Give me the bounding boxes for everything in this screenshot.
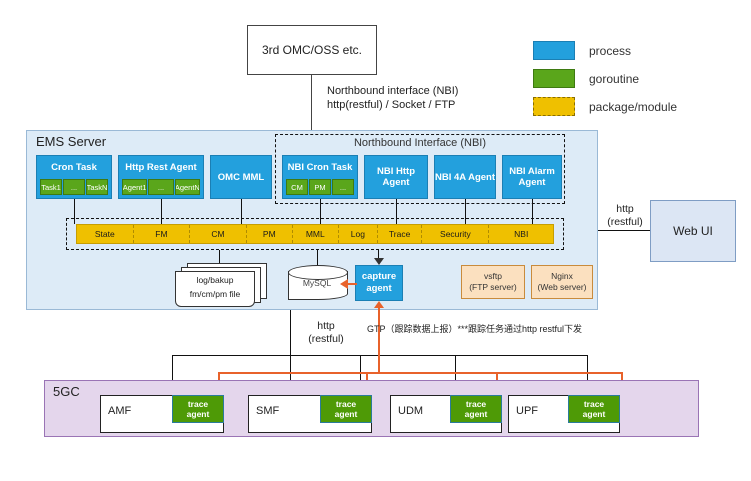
legend-swatch-package-module <box>533 97 575 116</box>
module-fm[interactable]: FM <box>134 225 191 243</box>
legend-label-goroutine: goroutine <box>589 72 639 86</box>
network-function-udm[interactable]: UDM trace agent <box>390 395 502 433</box>
goroutine-taskn: TaskN <box>86 179 108 195</box>
module-cm[interactable]: CM <box>190 225 247 243</box>
goroutine-task-ellipsis: ... <box>63 179 85 195</box>
capture-agent-label-line1: capture <box>362 271 396 283</box>
cron-task-goroutines: Task1 ... TaskN <box>40 179 108 195</box>
legend-label-package-module: package/module <box>589 100 677 114</box>
omc-to-ems-connector <box>311 75 312 134</box>
legend-swatch-goroutine <box>533 69 575 88</box>
http-rest-agent-goroutines: Agent1 ... AgentN <box>122 179 200 195</box>
webui-connection-label: http (restful) <box>601 203 649 229</box>
module-pm[interactable]: PM <box>247 225 293 243</box>
network-function-smf[interactable]: SMF trace agent <box>248 395 372 433</box>
http-restful-label: http (restful) <box>296 320 356 346</box>
capture-agent-process[interactable]: capture agent <box>355 265 403 301</box>
vsftp-server-box: vsftp (FTP server) <box>461 265 525 299</box>
process-omc-mml-label: OMC MML <box>218 172 264 183</box>
trace-agent-udm-line1: trace <box>465 399 488 409</box>
arrow-modules-to-capture-agent <box>374 258 384 265</box>
trace-agent-smf-line2: agent <box>335 409 358 419</box>
orange-gtp-vertical-to-capture-agent <box>378 308 380 372</box>
connector-ems-to-webui <box>598 230 650 231</box>
legend-item-goroutine: goroutine <box>533 69 677 88</box>
ems-server-title: EMS Server <box>36 134 106 149</box>
nginx-server-box: Nginx (Web server) <box>531 265 593 299</box>
legend-item-process: process <box>533 41 677 60</box>
trace-agent-upf-line1: trace <box>583 399 606 409</box>
module-trace[interactable]: Trace <box>378 225 422 243</box>
nbi-connection-label: Northbound interface (NBI) http(restful)… <box>327 84 537 112</box>
capture-agent-label-line2: agent <box>362 283 396 295</box>
goroutine-agent1: Agent1 <box>122 179 147 195</box>
process-nbi-http-agent[interactable]: NBI Http Agent <box>364 155 428 199</box>
gtp-trace-label: GTP（跟踪数据上报）***跟踪任务通过http restful下发 <box>367 322 627 335</box>
web-ui-label: Web UI <box>673 224 713 238</box>
amf-label: AMF <box>108 405 131 417</box>
nbi-cron-task-goroutines: CM PM ... <box>286 179 354 195</box>
connector-capture-agent-to-database <box>348 283 357 285</box>
module-nbi[interactable]: NBI <box>489 225 553 243</box>
goroutine-task1: Task1 <box>40 179 62 195</box>
trace-agent-amf[interactable]: trace agent <box>172 395 224 423</box>
network-function-upf[interactable]: UPF trace agent <box>508 395 620 433</box>
process-cron-task-label: Cron Task <box>37 156 111 178</box>
trace-agent-smf[interactable]: trace agent <box>320 395 372 423</box>
files-label-line1: log/bakup <box>176 275 254 285</box>
omc-oss-label: 3rd OMC/OSS etc. <box>262 43 362 57</box>
goroutine-pm: PM <box>309 179 331 195</box>
trace-agent-upf-line2: agent <box>583 409 606 419</box>
goroutine-cm: CM <box>286 179 308 195</box>
log-backup-files: log/bakup fm/cm/pm file <box>175 263 265 305</box>
upf-label: UPF <box>516 405 538 417</box>
legend-swatch-process <box>533 41 575 60</box>
third-party-omc-oss-box: 3rd OMC/OSS etc. <box>247 25 377 75</box>
process-omc-mml[interactable]: OMC MML <box>210 155 272 199</box>
web-ui-box[interactable]: Web UI <box>650 200 736 262</box>
nginx-label-line2: (Web server) <box>538 282 587 293</box>
goroutine-agentn: AgentN <box>175 179 200 195</box>
smf-label: SMF <box>256 405 279 417</box>
trace-agent-udm[interactable]: trace agent <box>450 395 502 423</box>
process-nbi-alarm-agent[interactable]: NBI Alarm Agent <box>502 155 562 199</box>
database-label: MySQL <box>288 278 346 288</box>
files-label-line2: fm/cm/pm file <box>176 289 254 299</box>
trace-agent-amf-line2: agent <box>187 409 210 419</box>
module-log[interactable]: Log <box>339 225 378 243</box>
module-state[interactable]: State <box>77 225 134 243</box>
orange-bus-horizontal <box>218 372 623 374</box>
goroutine-agent-ellipsis: ... <box>148 179 173 195</box>
process-nbi-cron-task[interactable]: NBI Cron Task CM PM ... <box>282 155 358 199</box>
module-mml[interactable]: MML <box>293 225 339 243</box>
arrow-gtp-to-capture-agent <box>374 301 384 308</box>
legend-item-package-module: package/module <box>533 97 677 116</box>
trace-agent-smf-line1: trace <box>335 399 358 409</box>
trace-agent-upf[interactable]: trace agent <box>568 395 620 423</box>
process-nbi-cron-task-label: NBI Cron Task <box>283 156 357 178</box>
legend: process goroutine package/module <box>533 41 677 125</box>
trace-agent-udm-line2: agent <box>465 409 488 419</box>
process-nbi-alarm-agent-label: NBI Alarm Agent <box>503 166 561 188</box>
process-http-rest-agent-label: Http Rest Agent <box>119 156 203 178</box>
5gc-title: 5GC <box>53 384 80 399</box>
nbi-group-title: Northbound Interface (NBI) <box>275 137 565 149</box>
connector-ems-http-restful-down <box>290 310 291 355</box>
module-security[interactable]: Security <box>422 225 489 243</box>
udm-label: UDM <box>398 405 423 417</box>
legend-label-process: process <box>589 44 631 58</box>
process-nbi-http-agent-label: NBI Http Agent <box>365 166 427 188</box>
process-nbi-4a-agent[interactable]: NBI 4A Agent <box>434 155 496 199</box>
trace-agent-amf-line1: trace <box>187 399 210 409</box>
process-cron-task[interactable]: Cron Task Task1 ... TaskN <box>36 155 112 199</box>
vsftp-label-line1: vsftp <box>469 271 517 282</box>
arrow-capture-agent-to-database <box>340 279 348 289</box>
process-nbi-4a-agent-label: NBI 4A Agent <box>435 172 495 183</box>
vsftp-label-line2: (FTP server) <box>469 282 517 293</box>
goroutine-nbi-ellipsis: ... <box>332 179 354 195</box>
network-function-amf[interactable]: AMF trace agent <box>100 395 224 433</box>
module-bar: State FM CM PM MML Log Trace Security NB… <box>76 224 554 244</box>
file-stack-front: log/bakup fm/cm/pm file <box>175 271 255 307</box>
nginx-label-line1: Nginx <box>538 271 587 282</box>
mysql-database: MySQL <box>288 265 346 305</box>
process-http-rest-agent[interactable]: Http Rest Agent Agent1 ... AgentN <box>118 155 204 199</box>
